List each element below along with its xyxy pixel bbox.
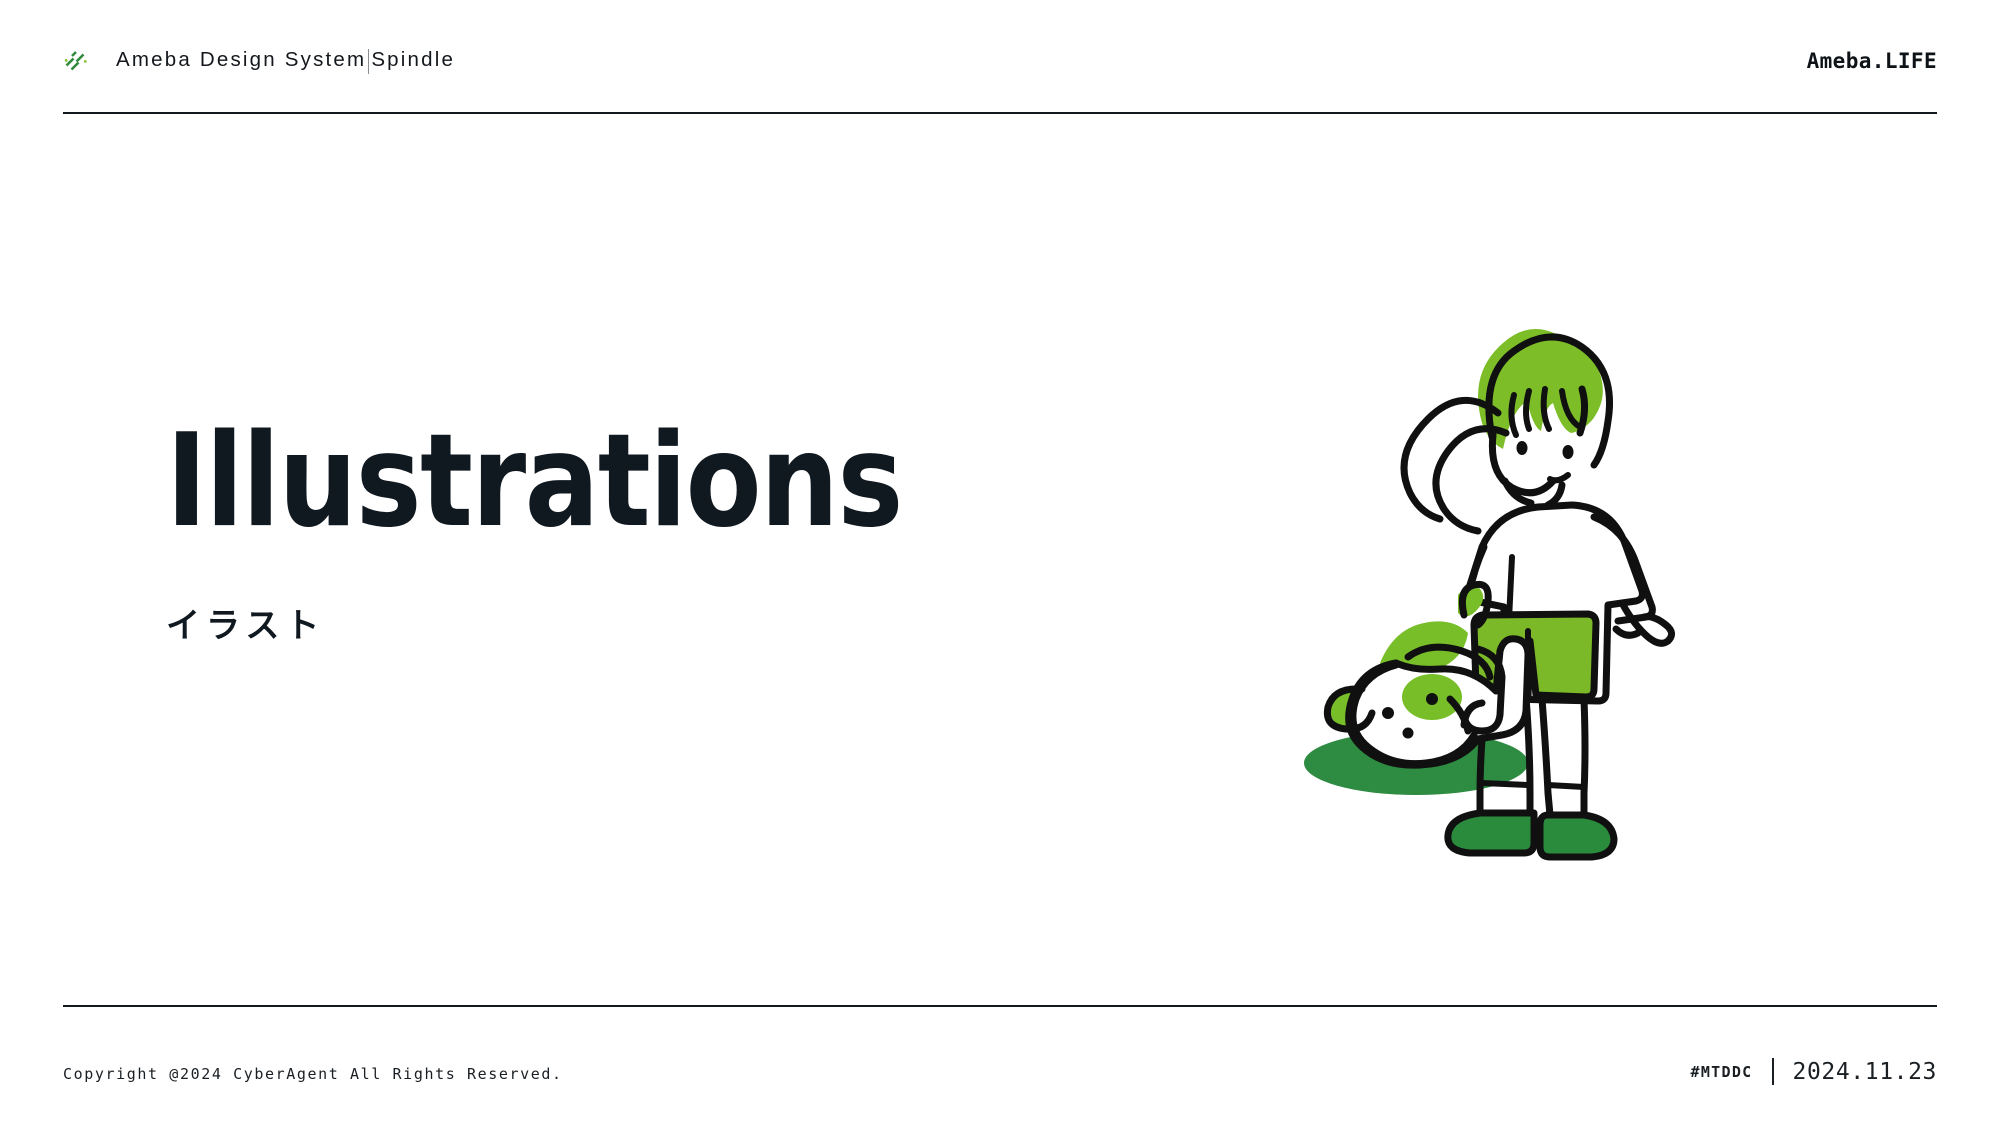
- header-separator: [368, 49, 369, 74]
- page-title: Illustrations: [166, 418, 902, 546]
- slide-root: Ameba Design SystemSpindle Ameba.LIFE Il…: [0, 0, 2000, 1125]
- person-shoes-left: [1448, 813, 1534, 853]
- slide-header: Ameba Design SystemSpindle Ameba.LIFE: [63, 30, 1937, 92]
- person-with-dog-illustration: [1300, 285, 1780, 865]
- header-left-group: Ameba Design SystemSpindle: [63, 48, 455, 74]
- header-subtitle-text: Spindle: [371, 48, 455, 71]
- header-title-text: Ameba Design System: [116, 48, 366, 71]
- event-hashtag: #MTDDC: [1691, 1063, 1753, 1081]
- person-shoes-right: [1540, 815, 1614, 857]
- header-title: Ameba Design SystemSpindle: [116, 48, 455, 73]
- footer-right-group: #MTDDC 2024.11.23: [1691, 1058, 1937, 1085]
- footer-separator: [1772, 1058, 1774, 1085]
- header-divider: [63, 112, 1937, 114]
- main-text-block: Illustrations イラスト: [166, 418, 933, 647]
- presentation-date: 2024.11.23: [1793, 1059, 1937, 1085]
- page-subtitle: イラスト: [166, 598, 933, 647]
- footer-divider: [63, 1005, 1937, 1007]
- ameba-life-brand-logo: Ameba.LIFE: [1807, 49, 1937, 73]
- copyright-text: Copyright @2024 CyberAgent All Rights Re…: [63, 1065, 563, 1083]
- ameba-diagonal-dashes-icon: [63, 48, 89, 74]
